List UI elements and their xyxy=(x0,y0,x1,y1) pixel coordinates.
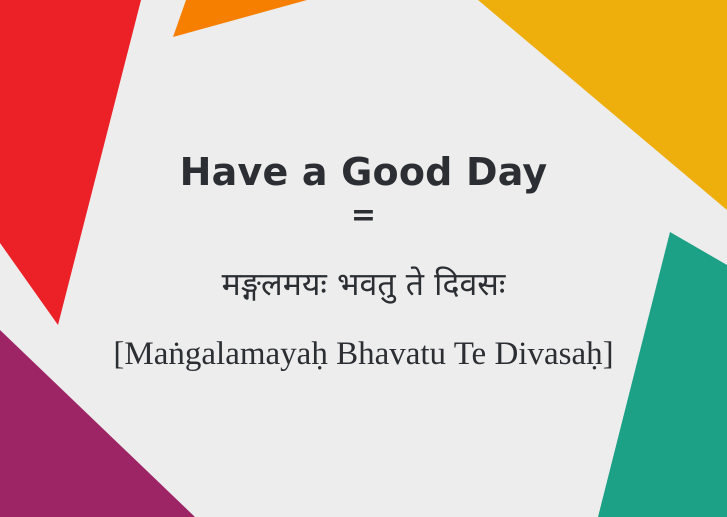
text-layer: Have a Good Day = मङ्गलमयः भवतु ते दिवसः… xyxy=(0,0,727,517)
greeting-card: Have a Good Day = मङ्गलमयः भवतु ते दिवसः… xyxy=(0,0,727,517)
headline-text: Have a Good Day xyxy=(0,150,727,194)
equals-sign: = xyxy=(0,198,727,233)
devanagari-text: मङ्गलमयः भवतु ते दिवसः xyxy=(0,262,727,305)
transliteration-text: [Maṅgalamayaḥ Bhavatu Te Divasaḥ] xyxy=(0,336,727,373)
